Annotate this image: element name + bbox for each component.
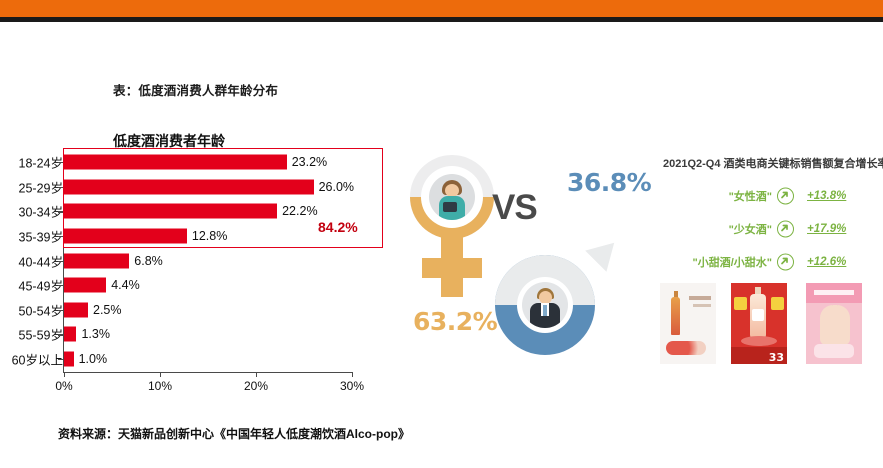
bar-category-label: 18-24岁 bbox=[19, 153, 63, 172]
male-symbol-icon bbox=[490, 235, 650, 360]
bar-value-label: 1.3% bbox=[81, 327, 110, 341]
growth-row: "小甜酒/小甜水"+12.6% bbox=[655, 251, 880, 273]
growth-panel-title: 2021Q2-Q4 酒类电商关键标销售额复合增长率 bbox=[663, 155, 883, 171]
x-axis-tick bbox=[256, 372, 257, 377]
bar-value-label: 23.2% bbox=[292, 155, 327, 169]
bar-value-label: 6.8% bbox=[134, 254, 163, 268]
bar-value-label: 4.4% bbox=[111, 278, 140, 292]
growth-arrow-icon bbox=[777, 254, 794, 271]
bar-row: 25-29岁26.0% bbox=[0, 175, 400, 200]
product-thumbnail-1 bbox=[660, 283, 716, 364]
bar-segment bbox=[64, 229, 187, 244]
growth-category-label: "女性酒" bbox=[729, 188, 772, 204]
bar-value-label: 2.5% bbox=[93, 303, 122, 317]
bar-value-label: 22.2% bbox=[282, 204, 317, 218]
bar-row: 40-44岁6.8% bbox=[0, 248, 400, 273]
table-caption: 表：低度酒消费人群年龄分布 bbox=[113, 80, 278, 99]
product-thumbnail-2: 33 bbox=[731, 283, 787, 364]
bar-value-label: 26.0% bbox=[319, 180, 354, 194]
product-thumbnail-strip: 33 bbox=[658, 283, 878, 368]
growth-value-label: +12.6% bbox=[807, 256, 846, 268]
top-orange-band bbox=[0, 0, 883, 17]
growth-value-label: +17.9% bbox=[807, 223, 846, 235]
growth-category-label: "小甜酒/小甜水" bbox=[693, 254, 773, 270]
female-cross-shape bbox=[422, 258, 482, 278]
vs-label: VS bbox=[492, 188, 537, 228]
bar-segment bbox=[64, 278, 106, 293]
bar-category-label: 35-39岁 bbox=[19, 227, 63, 246]
y-axis-tick bbox=[58, 236, 63, 237]
bar-row: 55-59岁1.3% bbox=[0, 322, 400, 347]
growth-arrow-icon bbox=[777, 221, 794, 238]
bar-value-label: 1.0% bbox=[79, 352, 108, 366]
highlight-sum-label: 84.2% bbox=[318, 219, 358, 235]
x-axis-tick bbox=[160, 372, 161, 377]
y-axis-tick bbox=[58, 334, 63, 335]
female-symbol-icon bbox=[405, 155, 500, 305]
bar-segment bbox=[64, 352, 74, 367]
growth-row: "少女酒"+17.9% bbox=[655, 218, 880, 240]
bar-segment bbox=[64, 302, 88, 317]
bar-segment bbox=[64, 253, 129, 268]
bar-row: 45-49岁4.4% bbox=[0, 273, 400, 298]
bar-category-label: 50-54岁 bbox=[19, 300, 63, 319]
slide-canvas: 表：低度酒消费人群年龄分布 低度酒消费者年龄 18-24岁23.2%25-29岁… bbox=[0, 0, 883, 468]
bar-category-label: 25-29岁 bbox=[19, 177, 63, 196]
bar-row: 50-54岁2.5% bbox=[0, 298, 400, 323]
x-axis-tick bbox=[64, 372, 65, 377]
top-dark-band bbox=[0, 17, 883, 22]
bar-category-label: 55-59岁 bbox=[19, 325, 63, 344]
bar-segment bbox=[64, 204, 277, 219]
bar-category-label: 60岁以上 bbox=[12, 350, 63, 369]
bar-category-label: 30-34岁 bbox=[19, 202, 63, 221]
y-axis-tick bbox=[58, 162, 63, 163]
product-price-label: 33 bbox=[769, 352, 784, 363]
y-axis-tick bbox=[58, 261, 63, 262]
y-axis-tick bbox=[58, 187, 63, 188]
y-axis-tick bbox=[58, 285, 63, 286]
growth-arrow-icon bbox=[777, 188, 794, 205]
source-footer: 资料来源：天猫新品创新中心《中国年轻人低度潮饮酒Alco-pop》 bbox=[58, 425, 410, 442]
chart-title: 低度酒消费者年龄 bbox=[113, 131, 225, 151]
x-axis-tick-label: 0% bbox=[55, 379, 72, 393]
growth-row: "女性酒"+13.8% bbox=[655, 185, 880, 207]
female-percent-label: 63.2% bbox=[413, 307, 497, 336]
bar-category-label: 40-44岁 bbox=[19, 251, 63, 270]
bar-category-label: 45-49岁 bbox=[19, 276, 63, 295]
y-axis-tick bbox=[58, 359, 63, 360]
male-avatar bbox=[522, 282, 568, 328]
age-distribution-bar-chart: 18-24岁23.2%25-29岁26.0%30-34岁22.2%35-39岁1… bbox=[0, 150, 400, 395]
growth-value-label: +13.8% bbox=[807, 190, 846, 202]
male-percent-label: 36.8% bbox=[567, 168, 651, 197]
bar-segment bbox=[64, 327, 76, 342]
bar-row: 60岁以上1.0% bbox=[0, 347, 400, 372]
x-axis-tick bbox=[352, 372, 353, 377]
x-axis-tick-label: 10% bbox=[148, 379, 172, 393]
bar-row: 18-24岁23.2% bbox=[0, 150, 400, 175]
gender-split-graphic: 63.2% VS 36.8% bbox=[395, 155, 660, 360]
x-axis-tick-label: 30% bbox=[340, 379, 364, 393]
x-axis-tick-label: 20% bbox=[244, 379, 268, 393]
bar-segment bbox=[64, 179, 314, 194]
product-thumbnail-3 bbox=[806, 283, 862, 364]
bar-segment bbox=[64, 155, 287, 170]
growth-category-label: "少女酒" bbox=[729, 221, 772, 237]
y-axis-tick bbox=[58, 310, 63, 311]
male-arrow-head bbox=[585, 232, 625, 272]
female-avatar bbox=[429, 174, 475, 220]
bar-value-label: 12.8% bbox=[192, 229, 227, 243]
y-axis-tick bbox=[58, 211, 63, 212]
x-axis-ticks: 0%10%20%30% bbox=[0, 372, 400, 396]
